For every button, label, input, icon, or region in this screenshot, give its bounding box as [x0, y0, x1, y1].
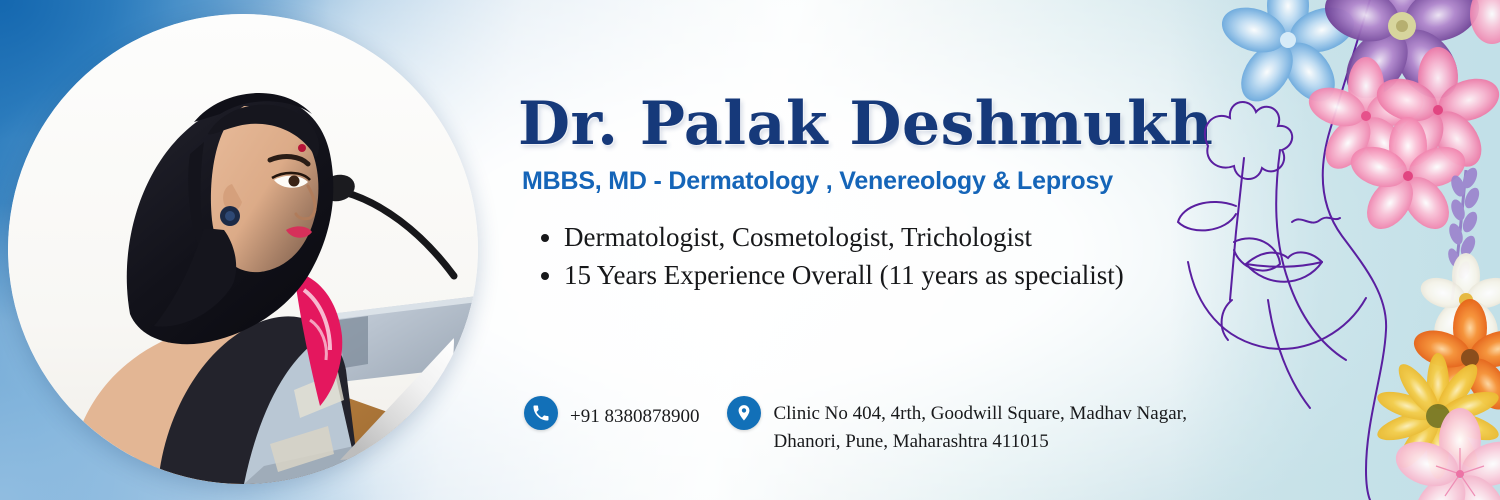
clinic-address: Clinic No 404, 4rth, Goodwill Square, Ma…: [773, 396, 1186, 455]
doctor-credentials: MBBS, MD - Dermatology , Venereology & L…: [522, 167, 1278, 196]
flower-pink-3: [1346, 117, 1471, 238]
flower-pink-1: [1304, 57, 1428, 177]
phone-number: +91 8380878900: [570, 396, 699, 431]
list-item: 15 Years Experience Overall (11 years as…: [564, 256, 1278, 294]
address-contact[interactable]: Clinic No 404, 4rth, Goodwill Square, Ma…: [727, 396, 1186, 455]
doctor-info-block: Dr. Palak Deshmukh MBBS, MD - Dermatolog…: [518, 92, 1278, 294]
portrait-container: [8, 14, 478, 484]
line-art-eye: [1292, 218, 1340, 223]
flower-pink-4: [1470, 0, 1500, 44]
phone-icon: [524, 396, 558, 430]
location-pin-icon: [727, 396, 761, 430]
doctor-highlights-list: Dermatologist, Cosmetologist, Trichologi…: [542, 218, 1278, 295]
flower-pink-2: [1371, 47, 1500, 176]
flower-lavender: [1446, 165, 1482, 300]
doctor-name: Dr. Palak Deshmukh: [518, 92, 1278, 157]
contact-row: +91 8380878900 Clinic No 404, 4rth, Good…: [524, 396, 1187, 455]
doctor-profile-banner: Dr. Palak Deshmukh MBBS, MD - Dermatolog…: [0, 0, 1500, 500]
line-art-face: [1268, 0, 1386, 500]
flower-yellow: [1374, 353, 1500, 479]
flower-white: [1417, 253, 1500, 348]
flower-purple: [1318, 0, 1486, 110]
list-item: Dermatologist, Cosmetologist, Trichologi…: [564, 218, 1278, 256]
doctor-portrait: [8, 14, 478, 484]
flower-orange: [1409, 299, 1500, 417]
flower-sakura: [1390, 408, 1500, 500]
phone-contact[interactable]: +91 8380878900: [524, 396, 699, 431]
